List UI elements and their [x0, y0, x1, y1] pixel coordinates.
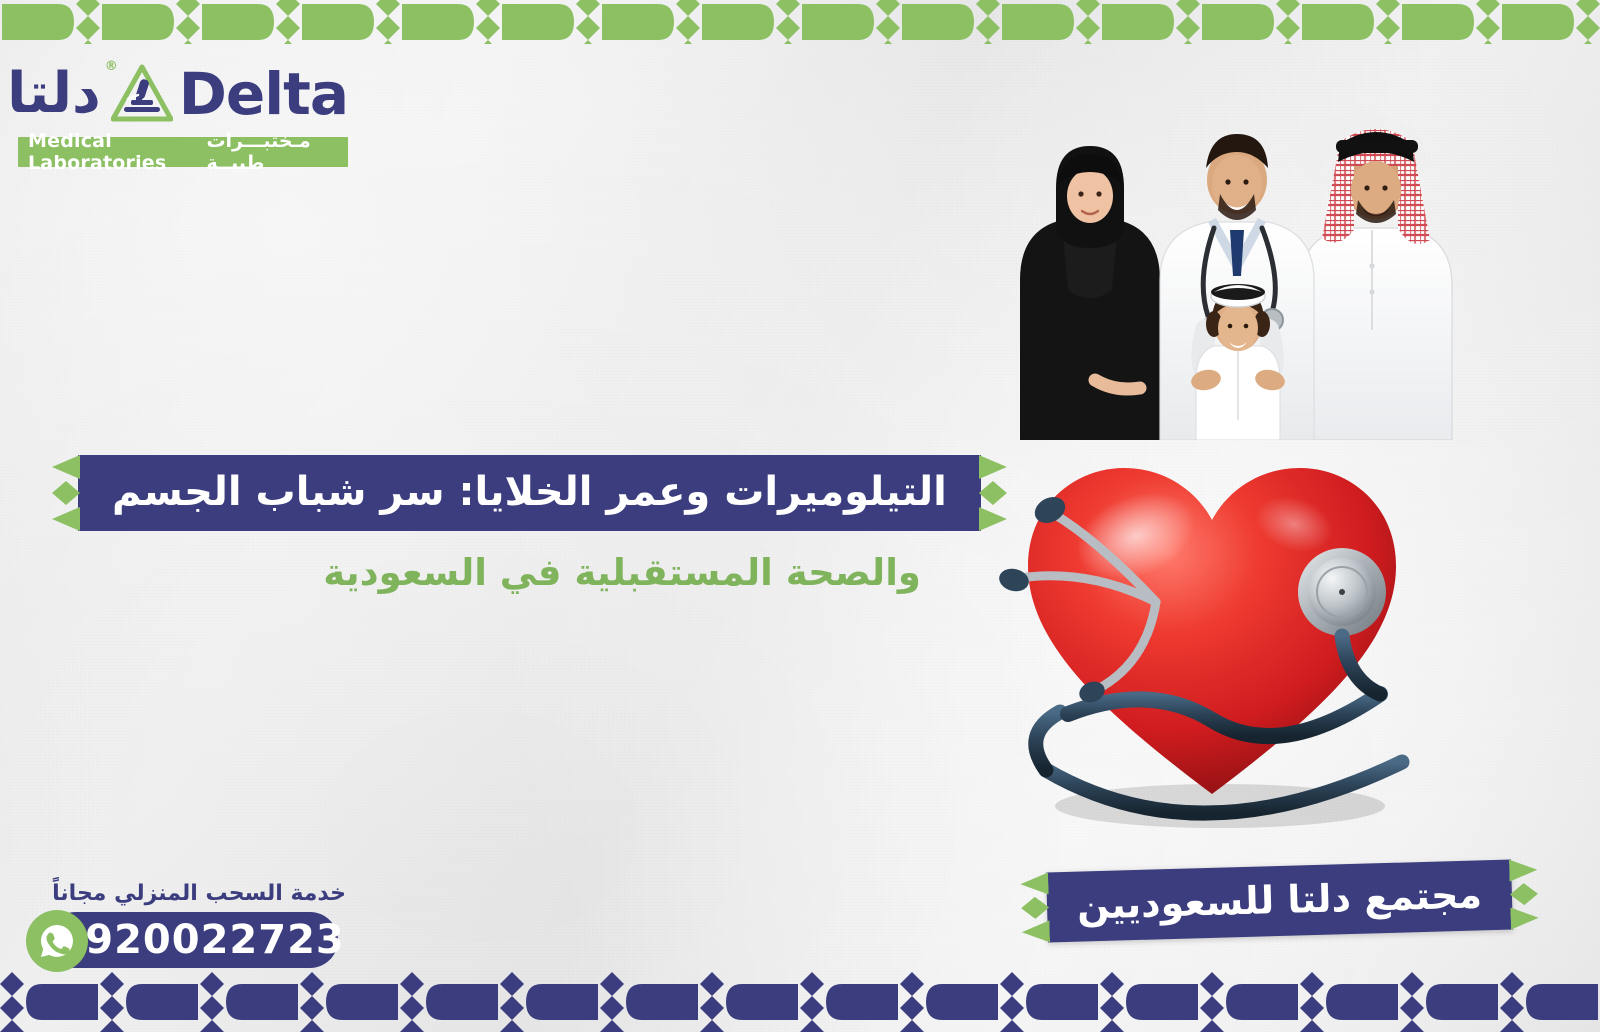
contact-caption: خدمة السحب المنزلي مجاناً [26, 881, 346, 906]
border-pattern-icon [0, 970, 1600, 1032]
phone-row[interactable]: 920022723 [26, 912, 356, 970]
headline-main: التيلوميرات وعمر الخلايا: سر شباب الجسم [112, 469, 947, 515]
logo-tagline-band: Medical Laboratories مـختبـــرات طبيــة [18, 137, 348, 167]
community-banner: مجتمع دلتا للسعوديين [1046, 860, 1513, 943]
whatsapp-glyph-icon [37, 921, 77, 961]
microscope-icon [111, 63, 173, 125]
whatsapp-icon[interactable] [26, 910, 88, 972]
logo-wordmark-row: Delta ® دلتا [18, 55, 348, 133]
banner-right-diamonds [979, 455, 1007, 531]
logo-tagline-en: Medical Laboratories [28, 130, 206, 174]
logo-tagline-ar: مـختبـــرات طبيــة [206, 130, 338, 174]
brand-logo[interactable]: Delta ® دلتا Medical Laboratories مـ [18, 55, 348, 167]
border-pattern-icon [0, 0, 1600, 44]
logo-arabic-text: دلتا [7, 66, 101, 122]
banner-canvas: Delta ® دلتا Medical Laboratories مـ [0, 0, 1600, 1032]
logo-latin-text: Delta [179, 65, 348, 123]
community-banner-text: مجتمع دلتا للسعوديين [1076, 872, 1482, 927]
phone-pill[interactable]: 920022723 [48, 912, 338, 968]
community-right-diamonds [1509, 859, 1539, 930]
saudi-family-photo [1000, 80, 1460, 440]
headline-sub: والصحة المستقبلية في السعودية [78, 551, 981, 594]
bottom-ornamental-border [0, 970, 1600, 1032]
phone-number: 920022723 [85, 917, 345, 963]
headline-banner: التيلوميرات وعمر الخلايا: سر شباب الجسم [78, 455, 981, 531]
microscope-triangle-icon: ® [111, 63, 173, 125]
banner-left-diamonds [52, 455, 80, 531]
registered-mark: ® [105, 59, 118, 74]
top-ornamental-border [0, 0, 1600, 44]
red-heart-3d [950, 390, 1470, 850]
community-left-diamonds [1020, 872, 1050, 943]
community-banner-inner: مجتمع دلتا للسعوديين [1046, 860, 1513, 943]
contact-block: خدمة السحب المنزلي مجاناً 920022723 [26, 881, 356, 970]
headline-block: التيلوميرات وعمر الخلايا: سر شباب الجسم … [78, 455, 981, 594]
